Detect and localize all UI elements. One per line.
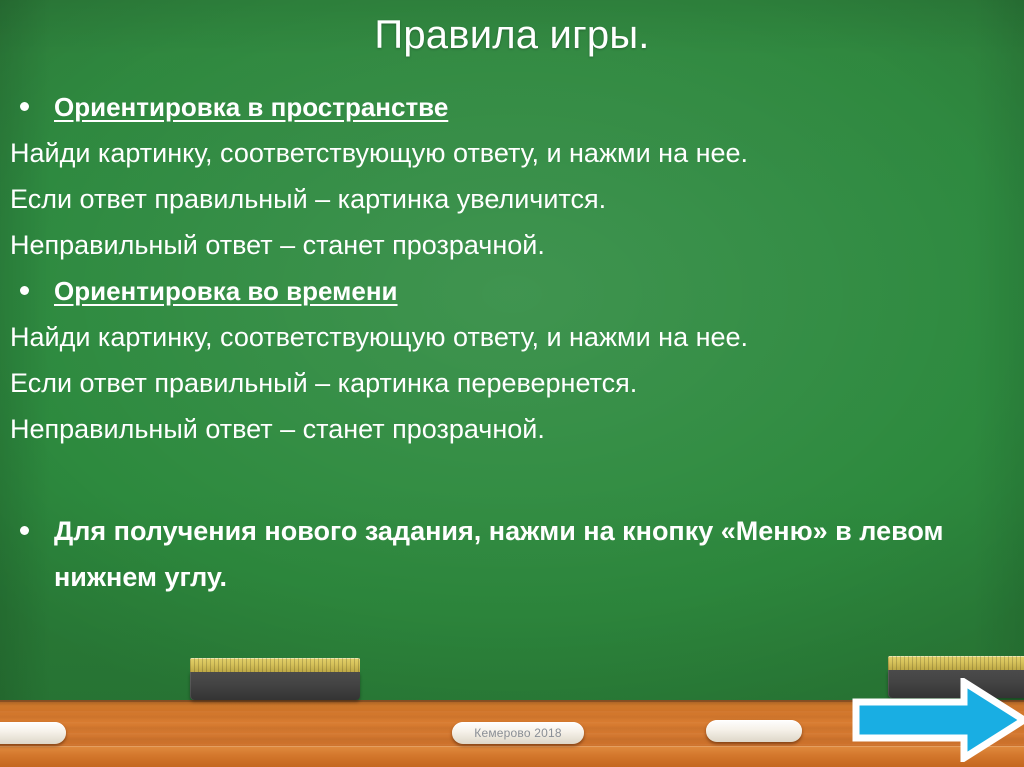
section-line: Найди картинку, соответствующую ответу, … — [10, 130, 1014, 176]
chalk-stick — [706, 720, 802, 742]
board-eraser — [190, 658, 360, 700]
section-line: Найди картинку, соответствующую ответу, … — [10, 314, 1014, 360]
list-item: Неправильный ответ – станет прозрачной. — [10, 222, 1014, 268]
slide-canvas: Правила игры. Ориентировка в пространств… — [0, 0, 1024, 767]
chalk-stick — [0, 722, 66, 744]
eraser-felt — [888, 656, 1024, 670]
list-item: Найди картинку, соответствующую ответу, … — [10, 314, 1014, 360]
section-heading-temporal: Ориентировка во времени — [54, 268, 1014, 314]
list-item: Ориентировка в пространстве — [10, 84, 1014, 130]
chalk-stick-labeled: Кемерово 2018 — [452, 722, 584, 744]
list-item: Неправильный ответ – станет прозрачной. — [10, 406, 1014, 452]
page-title: Правила игры. — [0, 8, 1024, 62]
chalk-label: Кемерово 2018 — [474, 726, 561, 740]
final-note: Для получения нового задания, нажми на к… — [54, 508, 989, 600]
section-line: Неправильный ответ – станет прозрачной. — [10, 406, 1014, 452]
eraser-body — [190, 672, 360, 700]
list-item: Если ответ правильный – картинка перевер… — [10, 360, 1014, 406]
list-item: Если ответ правильный – картинка увеличи… — [10, 176, 1014, 222]
list-item: Ориентировка во времени — [10, 268, 1014, 314]
slide-body: Ориентировка в пространстве Найди картин… — [0, 84, 1024, 600]
bullet-icon — [10, 268, 54, 314]
bullet-icon — [10, 84, 54, 130]
eraser-felt — [190, 658, 360, 672]
section-line: Неправильный ответ – станет прозрачной. — [10, 222, 1014, 268]
section-heading-spatial: Ориентировка в пространстве — [54, 84, 1014, 130]
bullet-icon — [10, 508, 54, 554]
list-item: Для получения нового задания, нажми на к… — [10, 508, 1014, 600]
list-item: Найди картинку, соответствующую ответу, … — [10, 130, 1014, 176]
section-line: Если ответ правильный – картинка увеличи… — [10, 176, 1014, 222]
section-line: Если ответ правильный – картинка перевер… — [10, 360, 1014, 406]
arrow-shape[interactable] — [856, 682, 1024, 758]
right-arrow-icon[interactable] — [852, 678, 1024, 762]
